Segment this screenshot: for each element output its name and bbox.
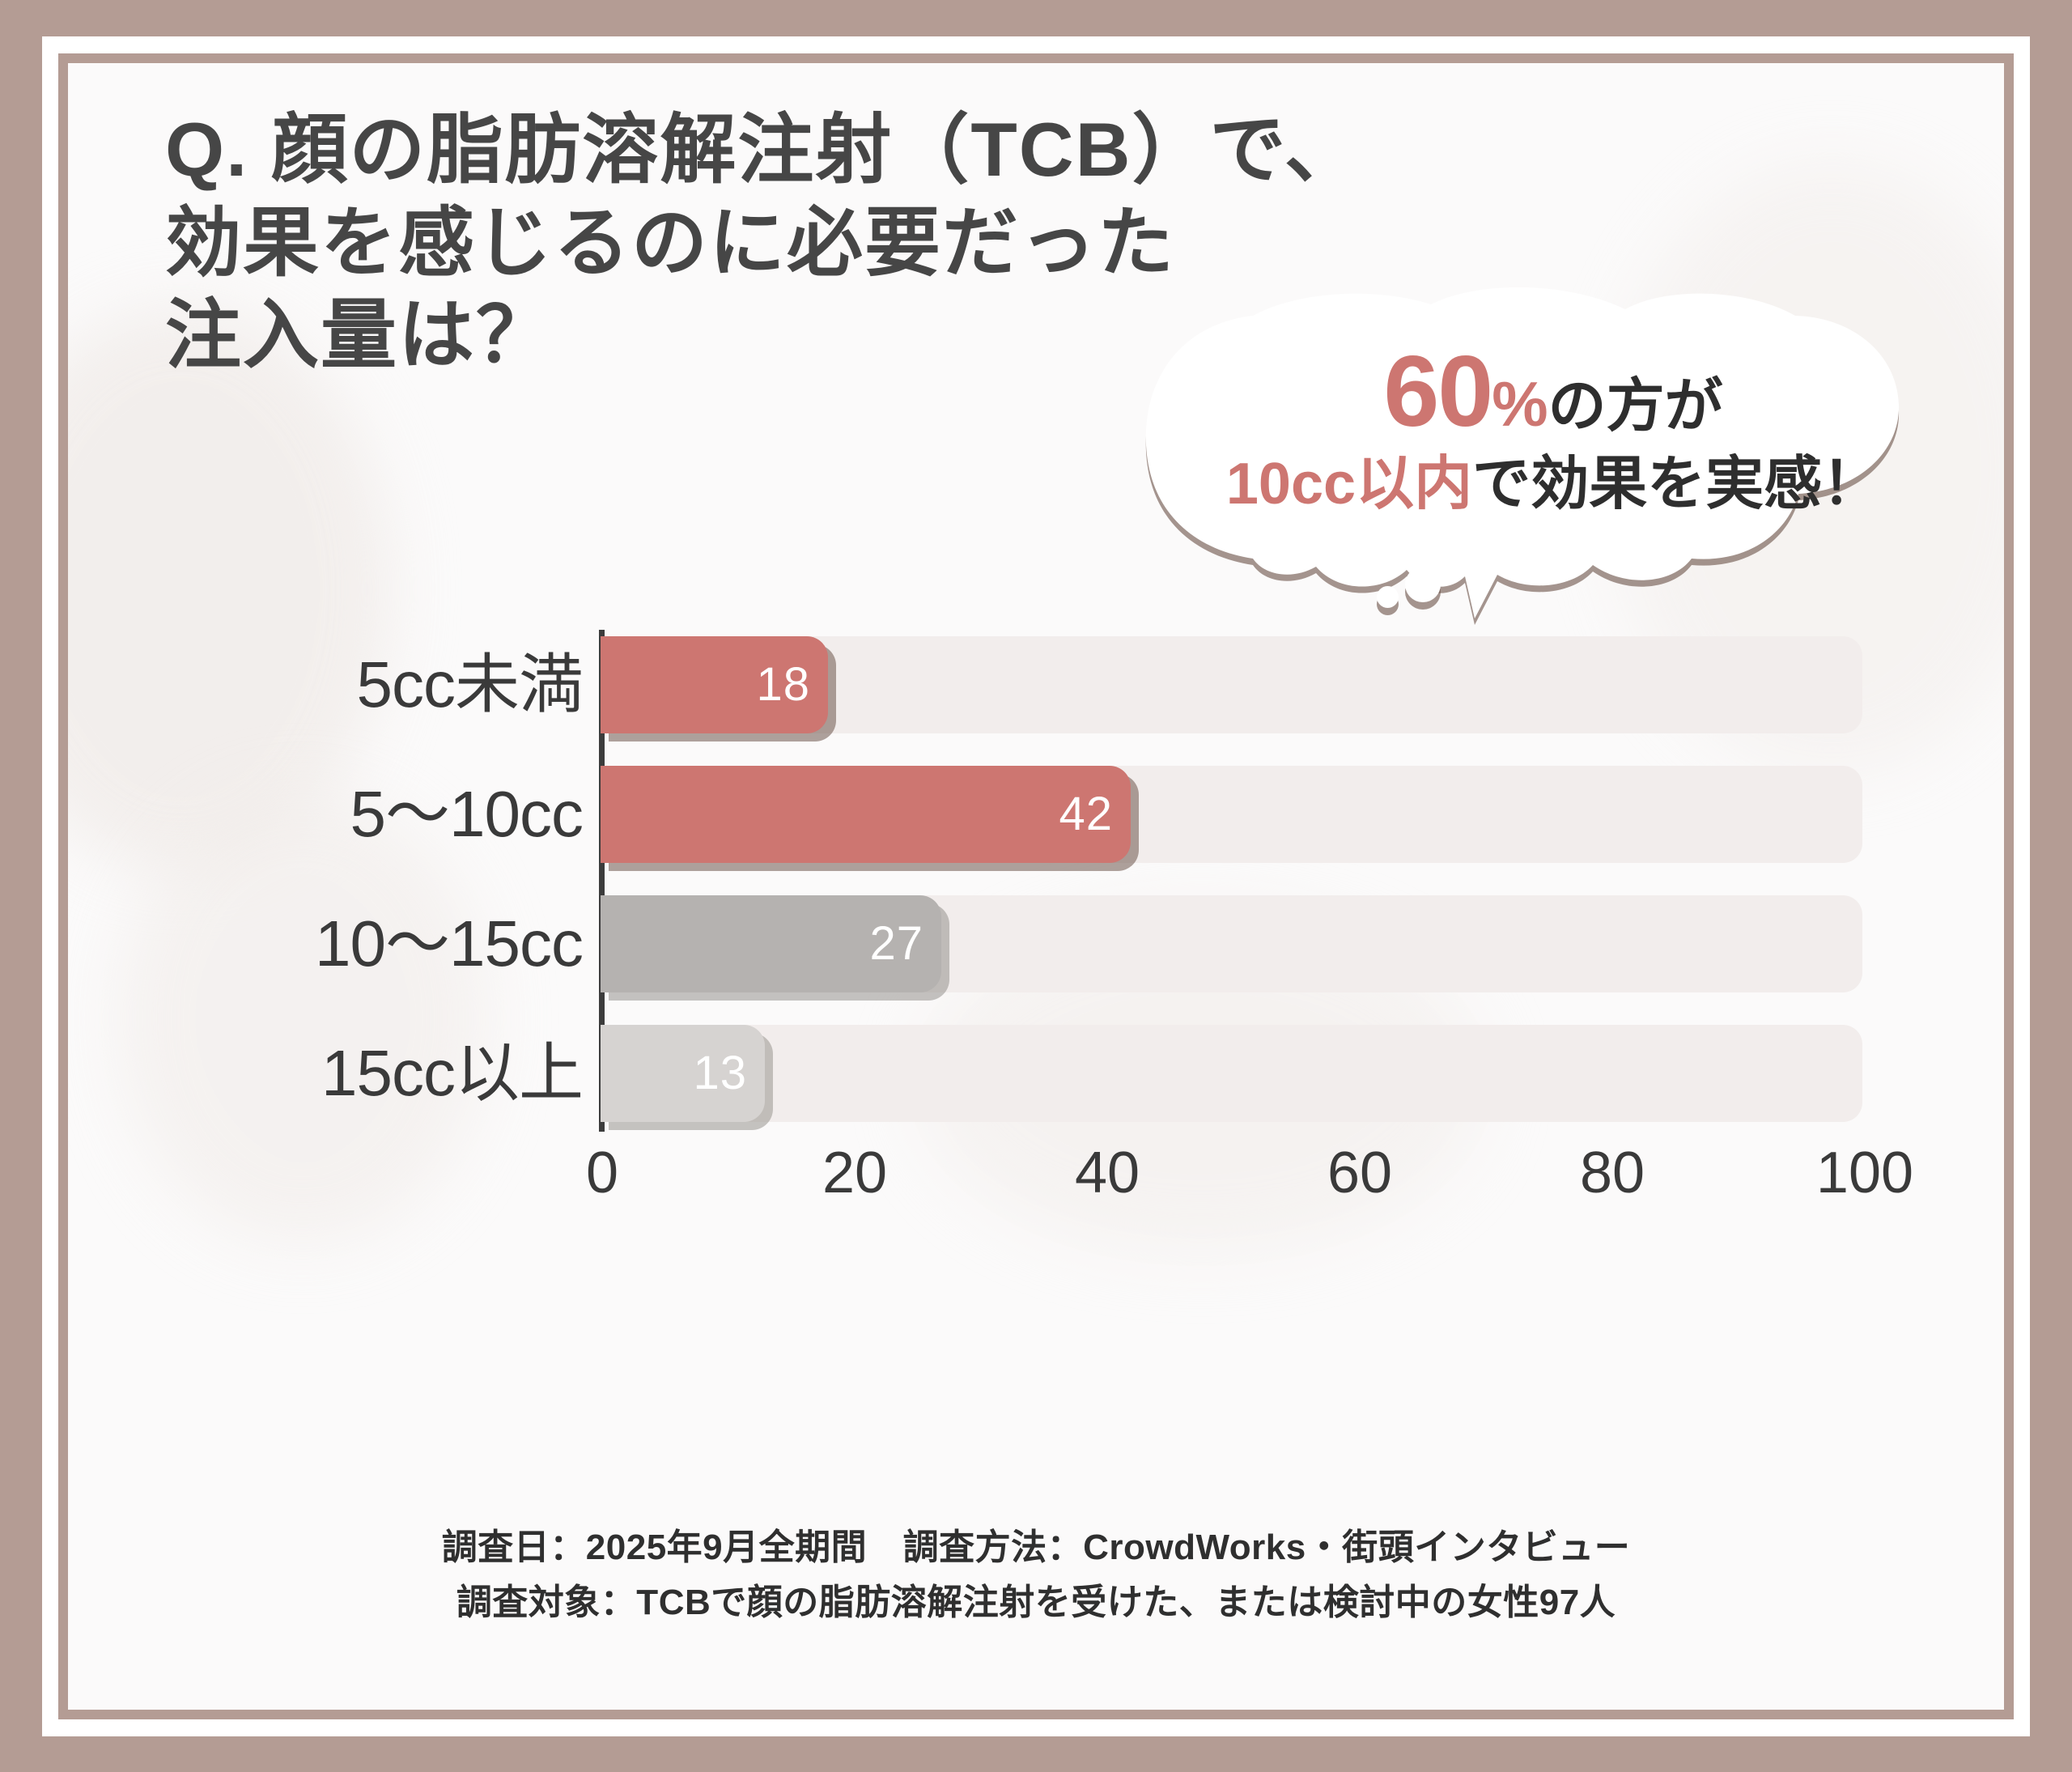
bar-value-label: 18	[756, 636, 810, 733]
bar-chart: 5cc未満 18 5～10cc 42 10～15cc 27	[68, 630, 2004, 1439]
infographic-canvas: Q. 顔の脂肪溶解注射（TCB）で、 効果を感じるのに必要だった 注入量は？ 6…	[0, 0, 2072, 1772]
chart-row: 15cc以上 13	[68, 1018, 2004, 1128]
chart-row: 10～15cc 27	[68, 889, 2004, 999]
bar-value: 27	[601, 895, 941, 992]
chart-row: 5～10cc 42	[68, 759, 2004, 869]
x-axis-ticks: 0 20 40 60 80 100	[68, 1140, 2004, 1229]
category-label: 5～10cc	[99, 759, 601, 869]
callout-line2-highlight: 10cc以内	[1226, 452, 1472, 516]
callout-line1-rest: の方が	[1548, 374, 1723, 439]
x-axis-tick-label: 60	[1327, 1140, 1392, 1206]
bar-value-label: 13	[693, 1025, 747, 1122]
survey-footnote-line-1: 調査日：2025年9月全期間 調査方法：CrowdWorks・街頭インタビュー	[68, 1520, 2004, 1575]
bar-value: 42	[601, 766, 1131, 863]
callout-percent-symbol: %	[1492, 368, 1548, 440]
x-axis-tick-label: 40	[1075, 1140, 1140, 1206]
callout-line2-normal: で効果を実感！	[1472, 452, 1880, 516]
x-axis-tick-label: 20	[822, 1140, 887, 1206]
bar-value: 18	[601, 636, 828, 733]
survey-footnote: 調査日：2025年9月全期間 調査方法：CrowdWorks・街頭インタビュー …	[68, 1520, 2004, 1630]
callout-line-2: 10cc以内で効果を実感！	[1120, 455, 1986, 513]
category-label: 15cc以上	[99, 1018, 601, 1128]
callout-line-1: 60%の方が	[1120, 342, 1986, 442]
bar-value: 13	[601, 1025, 765, 1122]
bar-value-label: 42	[1059, 766, 1113, 863]
bubble-dot-small	[1377, 586, 1399, 608]
bubble-dot-large	[1405, 567, 1441, 602]
chart-row: 5cc未満 18	[68, 630, 2004, 740]
survey-footnote-line-2: 調査対象：TCBで顔の脂肪溶解注射を受けた、または検討中の女性97人	[68, 1575, 2004, 1630]
callout-text: 60%の方が 10cc以内で効果を実感！	[1120, 342, 1986, 513]
category-label: 5cc未満	[99, 630, 601, 740]
x-axis-tick-label: 0	[586, 1140, 618, 1206]
content-stage: Q. 顔の脂肪溶解注射（TCB）で、 効果を感じるのに必要だった 注入量は？ 6…	[68, 63, 2004, 1710]
category-label: 10～15cc	[99, 889, 601, 999]
bar-value-label: 27	[869, 895, 923, 992]
bar-track	[601, 1025, 1862, 1122]
callout-big-number: 60	[1383, 336, 1492, 448]
callout-speech-bubble: 60%の方が 10cc以内で効果を実感！	[1120, 282, 1986, 646]
x-axis-tick-label: 80	[1580, 1140, 1645, 1206]
x-axis-tick-label: 100	[1816, 1140, 1913, 1206]
